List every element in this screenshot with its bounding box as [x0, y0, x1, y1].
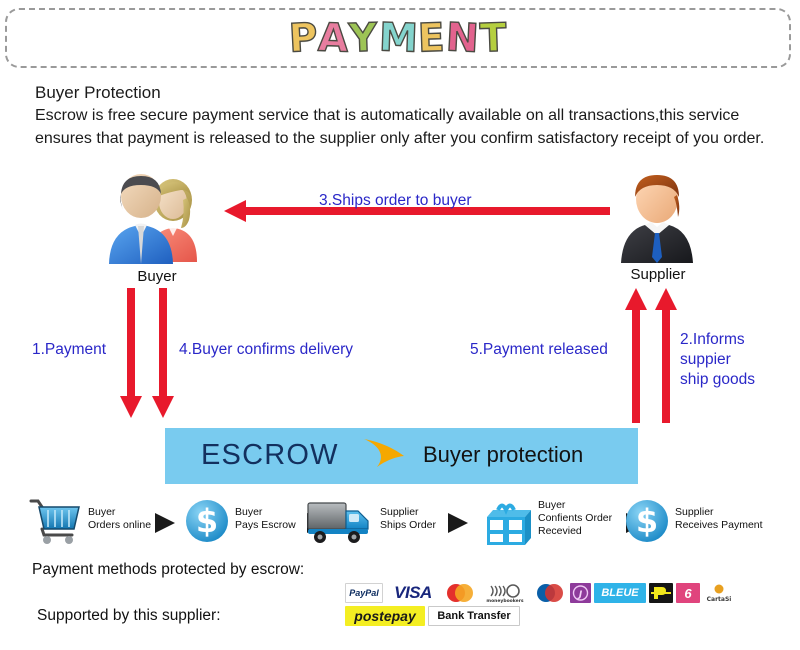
visa-logo-text: VISA [394, 583, 432, 603]
payment-logo-row-2: postepay Bank Transfer [345, 606, 735, 626]
jcb-logo: J [570, 583, 591, 603]
mastercard-logo [443, 583, 477, 603]
svg-text:CartaSi: CartaSi [707, 596, 732, 603]
arrowhead-down-payment [120, 396, 142, 418]
svg-text:$: $ [636, 502, 658, 540]
escrow-wordmark: ESCROW [201, 439, 339, 472]
flow-arrow-1 [155, 513, 175, 533]
dollar-coin-icon: $ [183, 497, 231, 545]
flow-arrow-3 [448, 513, 468, 533]
postepay-logo-text: postepay [354, 608, 415, 624]
flow-step-4-line-3: Recevied [538, 525, 612, 538]
flow-step-1-caption: Buyer Orders online [88, 506, 151, 532]
flow-step-3-line-1: Supplier [380, 506, 436, 519]
moneybookers-logo: moneybookers [480, 583, 530, 603]
cartebleue-logo-text: BLEUE [601, 587, 638, 599]
intro-heading: Buyer Protection [35, 82, 775, 104]
step-2-label: 2.Informs suppier ship goods [680, 330, 790, 390]
title-letter-t: T [479, 16, 508, 63]
step-4-label: 4.Buyer confirms delivery [179, 340, 353, 360]
step-3-label: 3.Ships order to buyer [319, 191, 472, 211]
payment-logo-row-1: PayPal VISA moneybookers [345, 583, 735, 603]
mastercard-circles-icon [443, 583, 477, 603]
cartebleue-logo: BLEUE [594, 583, 646, 603]
title-letter-m: M [378, 15, 419, 62]
flow-step-5: $ Supplier Receives Payment [623, 495, 788, 553]
step-2-line-1: 2.Informs [680, 330, 790, 350]
title-letter-n: N [445, 15, 481, 63]
process-flow: Buyer Orders online $ Buyer Pays Escrow [28, 495, 788, 553]
supported-supplier-label: Supported by this supplier: [37, 607, 221, 625]
cartasi-logo: CartaSi [703, 583, 735, 603]
visa-logo: VISA [386, 583, 440, 603]
step-2-line-3: ship goods [680, 370, 790, 390]
six-logo: 6 [676, 583, 700, 603]
flow-step-1-line-2: Orders online [88, 519, 151, 532]
flow-step-4-line-2: Confients Order [538, 512, 612, 525]
flow-step-3: Supplier Ships Order [306, 495, 471, 553]
dollar-coin-icon: $ [623, 497, 671, 545]
flow-step-1: Buyer Orders online [28, 495, 178, 553]
protected-methods-label: Payment methods protected by escrow: [32, 561, 304, 579]
flow-step-2-line-1: Buyer [235, 506, 296, 519]
flow-step-5-line-1: Supplier [675, 506, 763, 519]
arrow-payment-released [632, 308, 640, 423]
step-2-line-2: suppier [680, 350, 790, 370]
intro-body: Escrow is free secure payment service th… [35, 105, 775, 150]
bank-transfer-text: Bank Transfer [437, 610, 510, 622]
flow-step-2-caption: Buyer Pays Escrow [235, 506, 296, 532]
flow-step-2-line-2: Pays Escrow [235, 519, 296, 532]
payment-method-logos: PayPal VISA moneybookers [345, 583, 735, 629]
maestro-logo [533, 583, 567, 603]
arrowhead-down-confirm [152, 396, 174, 418]
postefinance-icon [649, 583, 673, 603]
flow-step-4-caption: Buyer Confients Order Recevied [538, 499, 612, 538]
title-letter-y: Y [349, 16, 380, 63]
arrow-informs-supplier [662, 308, 670, 423]
paypal-logo-text: PayPal [349, 588, 379, 598]
escrow-tagline: Buyer protection [423, 442, 583, 468]
title-letter-p: P [287, 15, 319, 62]
flow-step-5-caption: Supplier Receives Payment [675, 506, 763, 532]
maestro-circles-icon [533, 583, 567, 603]
buyer-label: Buyer [103, 268, 211, 285]
postefinance-logo [649, 583, 673, 603]
arrowhead-left [224, 200, 246, 222]
jcb-icon: J [570, 583, 591, 603]
cartasi-icon: CartaSi [703, 583, 735, 603]
arrow-buyer-confirms-delivery [159, 288, 167, 398]
flow-step-3-caption: Supplier Ships Order [380, 506, 436, 532]
escrow-banner: ESCROW Buyer protection [165, 428, 638, 484]
svg-text:$: $ [196, 502, 218, 540]
payment-infographic: PAYMENT Buyer Protection Escrow is free … [0, 0, 800, 650]
step-1-label: 1.Payment [32, 340, 106, 360]
flow-step-4-line-1: Buyer [538, 499, 612, 512]
flow-step-3-line-2: Ships Order [380, 519, 436, 532]
svg-text:moneybookers: moneybookers [486, 598, 524, 603]
flow-step-5-line-2: Receives Payment [675, 519, 763, 532]
bank-transfer-logo: Bank Transfer [428, 606, 520, 626]
paypal-logo: PayPal [345, 583, 383, 603]
delivery-truck-icon [306, 497, 376, 545]
buyer-protection-intro: Buyer Protection Escrow is free secure p… [35, 82, 775, 150]
moneybookers-icon: moneybookers [480, 583, 530, 603]
header-banner: PAYMENT [5, 8, 791, 68]
shopping-cart-icon [28, 497, 84, 545]
svg-text:J: J [577, 590, 583, 600]
flow-step-1-line-1: Buyer [88, 506, 151, 519]
gift-box-icon [478, 497, 532, 549]
postepay-logo: postepay [345, 606, 425, 626]
title-letter-e: E [418, 16, 447, 63]
title-letter-a: A [317, 15, 350, 62]
supplier-label: Supplier [613, 266, 703, 283]
escrow-swoosh-icon [361, 436, 407, 470]
six-logo-text: 6 [684, 586, 691, 601]
page-title: PAYMENT [7, 16, 789, 62]
arrowhead-up-informs [655, 288, 677, 310]
supplier-avatar-icon [615, 165, 699, 265]
arrow-payment [127, 288, 135, 398]
arrowhead-up-released [625, 288, 647, 310]
buyer-avatar-icon [103, 170, 211, 266]
step-5-label: 5.Payment released [470, 340, 608, 360]
